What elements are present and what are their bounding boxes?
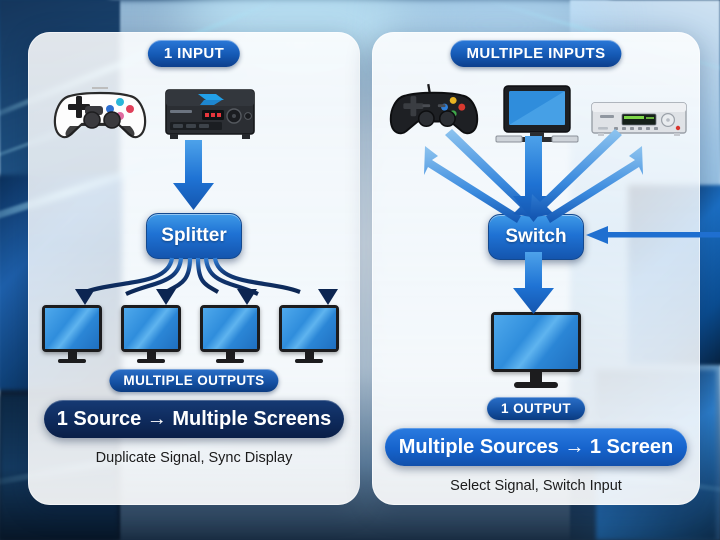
arrow-input-to-splitter (173, 140, 214, 210)
infographic-canvas: 1 INPUT (0, 0, 720, 540)
arrow-external-input-to-switch (586, 226, 720, 244)
arrow-splitter-fanout (85, 258, 300, 294)
arrow-layer (0, 0, 720, 540)
arrow-inputs-to-switch (424, 129, 643, 223)
arrow-switch-to-output (513, 252, 554, 314)
